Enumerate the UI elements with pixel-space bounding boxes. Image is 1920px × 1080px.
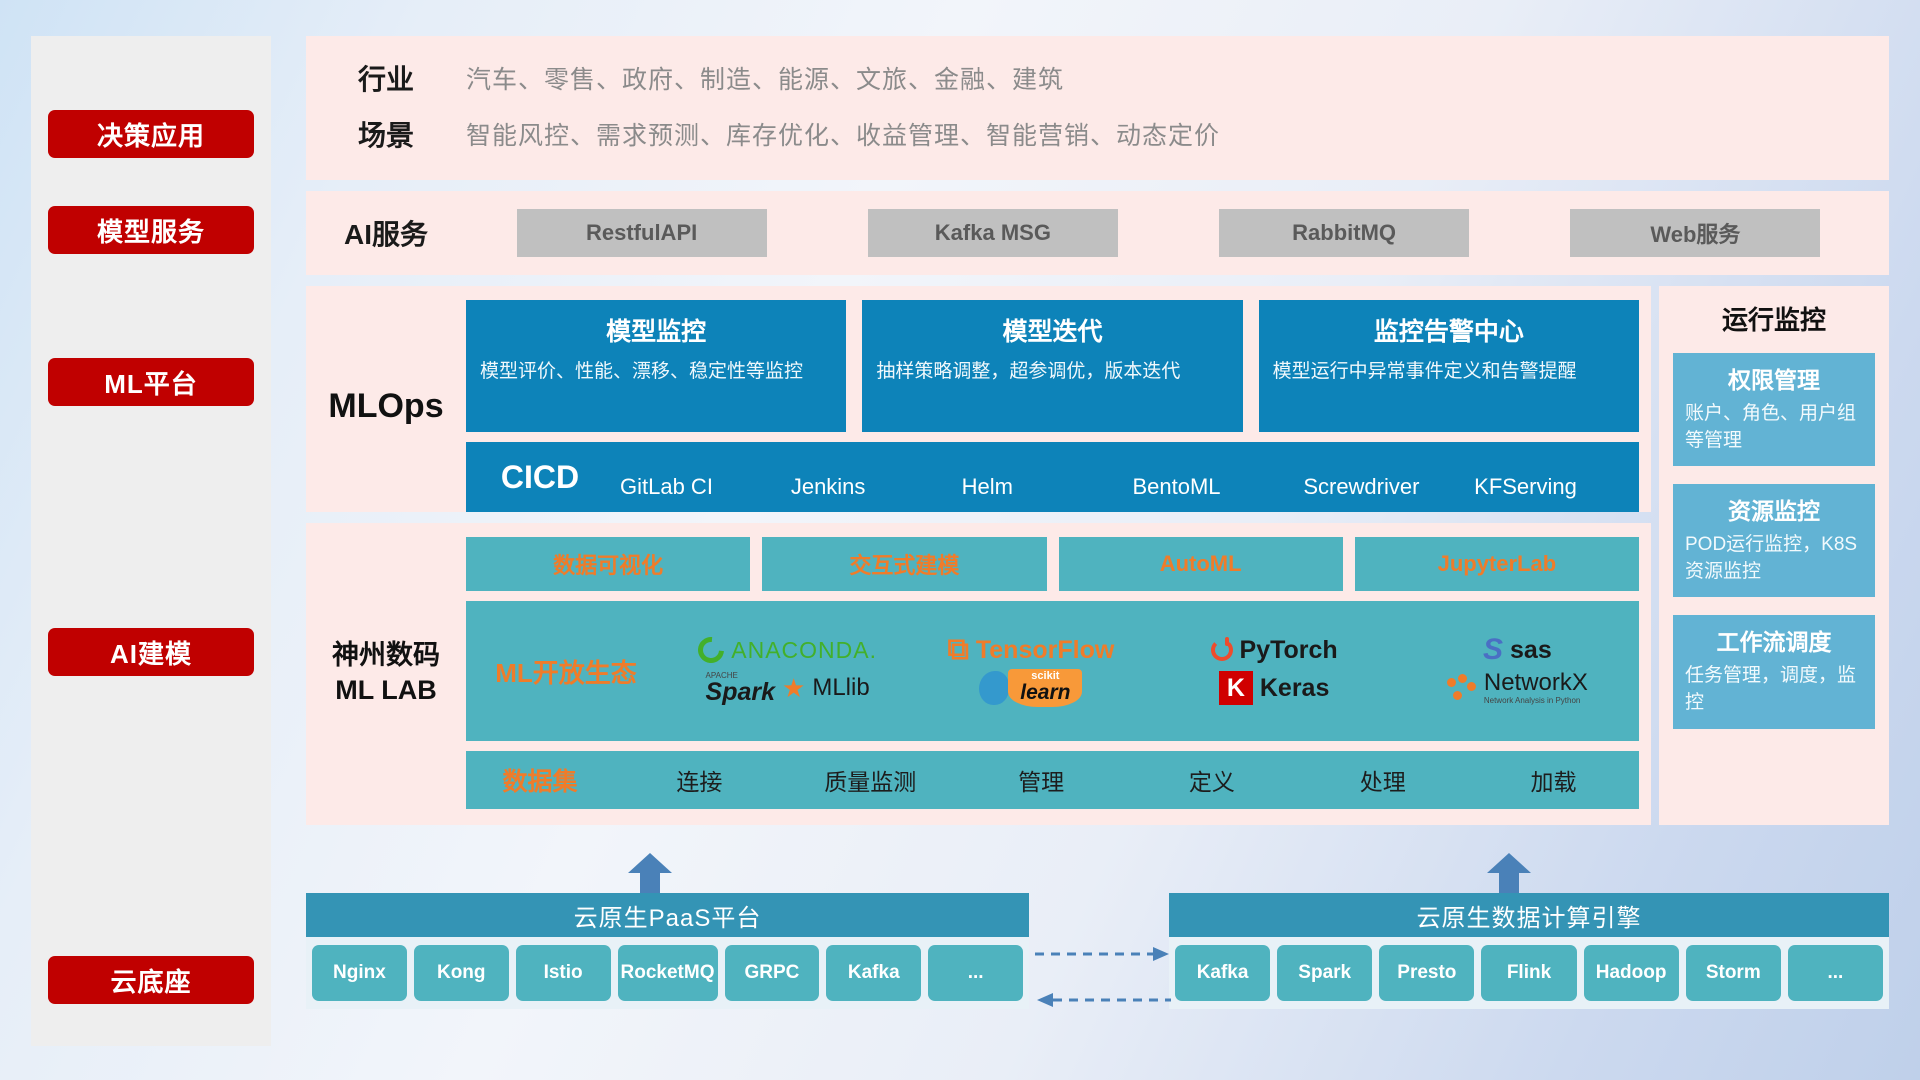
engine-chip-kafka[interactable]: Kafka [1175, 945, 1270, 1001]
cicd-item-helm[interactable]: Helm [956, 476, 1127, 498]
pytorch-flame-icon [1211, 639, 1233, 661]
card-desc: 模型运行中异常事件定义和告警提醒 [1273, 358, 1625, 386]
rail-item-ml-platform[interactable]: ML平台 [48, 358, 254, 406]
scikit-blob-icon [979, 671, 1009, 705]
anaconda-logo[interactable]: ANACONDA. [698, 637, 877, 664]
ai-service-chip-kafka-msg[interactable]: Kafka MSG [868, 209, 1118, 257]
paas-title: 云原生PaaS平台 [306, 893, 1029, 937]
ai-modeling-band: 神州数码 ML LAB 数据可视化 交互式建模 AutoML JupyterLa… [306, 523, 1651, 825]
pytorch-logo[interactable]: PyTorch [1211, 636, 1338, 665]
ecosystem-logo-grid: ANACONDA. ⧉ TensorFlow PyTorch [666, 635, 1639, 707]
keras-k-icon: K [1219, 671, 1253, 705]
tensorflow-logo[interactable]: ⧉ TensorFlow [947, 635, 1114, 665]
rail-item-label: AI建模 [110, 634, 192, 671]
anaconda-wordmark: ANACONDA. [731, 637, 877, 664]
scenario-label: 场景 [306, 114, 466, 154]
mllib-wordmark: MLlib [812, 674, 869, 702]
card-title: 模型迭代 [876, 312, 1228, 348]
ai-service-chip-row: RestfulAPI Kafka MSG RabbitMQ Web服务 [466, 209, 1889, 257]
spark-star-icon: ★ [782, 675, 805, 701]
mlops-label: MLOps [306, 300, 466, 512]
mlops-card-row: 模型监控 模型评价、性能、漂移、稳定性等监控 模型迭代 抽样策略调整，超参调优，… [466, 300, 1639, 432]
paas-chip-more[interactable]: ... [928, 945, 1023, 1001]
monitor-card-resource[interactable]: 资源监控 POD运行监控，K8S资源监控 [1673, 484, 1875, 597]
mlops-card-model-monitoring[interactable]: 模型监控 模型评价、性能、漂移、稳定性等监控 [466, 300, 846, 432]
networkx-tagline: Network Analysis in Python [1484, 697, 1588, 706]
brand-line-1: 神州数码 [332, 638, 440, 673]
paas-chip-istio[interactable]: Istio [516, 945, 611, 1001]
paas-chip-kafka[interactable]: Kafka [826, 945, 921, 1001]
stack-layer-rail: 决策应用 模型服务 ML平台 AI建模 云底座 [31, 36, 271, 1046]
keras-logo[interactable]: K Keras [1219, 671, 1330, 705]
card-desc: 抽样策略调整，超参调优，版本迭代 [876, 358, 1228, 386]
ml-lab-brand: 神州数码 ML LAB [306, 537, 466, 809]
paas-group: 云原生PaaS平台 Nginx Kong Istio RocketMQ GRPC… [306, 893, 1029, 1009]
dataset-item-load[interactable]: 加载 [1468, 763, 1639, 797]
engine-up-arrow-icon [1487, 853, 1531, 893]
paas-chip-grpc[interactable]: GRPC [725, 945, 820, 1001]
card-title: 模型监控 [480, 312, 832, 348]
networkx-graph-icon [1447, 674, 1477, 702]
tensorflow-wordmark: TensorFlow [976, 636, 1114, 665]
spark-wordmark: Spark [706, 680, 775, 705]
ai-service-chip-restfulapi[interactable]: RestfulAPI [517, 209, 767, 257]
monitor-card-workflow[interactable]: 工作流调度 任务管理，调度，监控 [1673, 615, 1875, 728]
ai-service-chip-web-service[interactable]: Web服务 [1570, 209, 1820, 257]
dataset-item-connect[interactable]: 连接 [614, 763, 785, 797]
engine-chip-row: Kafka Spark Presto Flink Hadoop Storm ..… [1169, 937, 1889, 1009]
dataset-item-quality-monitor[interactable]: 质量监测 [785, 763, 956, 797]
paas-chip-row: Nginx Kong Istio RocketMQ GRPC Kafka ... [306, 937, 1029, 1009]
card-title: 工作流调度 [1685, 623, 1863, 657]
card-desc: POD运行监控，K8S资源监控 [1685, 532, 1863, 585]
tensorflow-mark-icon: ⧉ [947, 635, 968, 665]
paas-chip-rocketmq[interactable]: RocketMQ [618, 945, 718, 1001]
decision-apps-band: 行业 汽车、零售、政府、制造、能源、文旅、金融、建筑 场景 智能风控、需求预测、… [306, 36, 1889, 180]
mlops-card-model-iteration[interactable]: 模型迭代 抽样策略调整，超参调优，版本迭代 [862, 300, 1242, 432]
engine-chip-flink[interactable]: Flink [1481, 945, 1576, 1001]
cicd-item-kfserving[interactable]: KFServing [1468, 476, 1639, 498]
engine-chip-spark[interactable]: Spark [1277, 945, 1372, 1001]
rail-item-label: 决策应用 [97, 116, 205, 153]
scenario-row: 场景 智能风控、需求预测、库存优化、收益管理、智能营销、动态定价 [306, 114, 1889, 154]
industry-row: 行业 汽车、零售、政府、制造、能源、文旅、金融、建筑 [306, 58, 1889, 98]
rail-item-label: 云底座 [110, 962, 191, 999]
keras-wordmark: Keras [1260, 674, 1330, 703]
dataset-label: 数据集 [466, 762, 614, 798]
industry-values: 汽车、零售、政府、制造、能源、文旅、金融、建筑 [466, 60, 1064, 96]
tool-chip-data-visualization[interactable]: 数据可视化 [466, 537, 750, 591]
card-title: 权限管理 [1685, 361, 1863, 395]
dataset-row: 数据集 连接 质量监测 管理 定义 处理 加载 [466, 751, 1639, 809]
card-desc: 模型评价、性能、漂移、稳定性等监控 [480, 358, 832, 386]
networkx-wordmark: NetworkX [1484, 670, 1588, 696]
sas-swirl-icon: S [1483, 635, 1503, 665]
rail-item-cloud-base[interactable]: 云底座 [48, 956, 254, 1004]
pytorch-wordmark: PyTorch [1240, 636, 1338, 665]
tool-chip-jupyterlab[interactable]: JupyterLab [1355, 537, 1639, 591]
mlops-card-alert-center[interactable]: 监控告警中心 模型运行中异常事件定义和告警提醒 [1259, 300, 1639, 432]
networkx-logo[interactable]: NetworkX Network Analysis in Python [1447, 670, 1588, 705]
engine-chip-storm[interactable]: Storm [1686, 945, 1781, 1001]
learn-word: learn [1020, 682, 1070, 703]
tool-chip-interactive-modeling[interactable]: 交互式建模 [762, 537, 1046, 591]
platform-region: MLOps 模型监控 模型评价、性能、漂移、稳定性等监控 模型迭代 抽样策略调整… [306, 286, 1889, 825]
mlops-band: MLOps 模型监控 模型评价、性能、漂移、稳定性等监控 模型迭代 抽样策略调整… [306, 286, 1651, 512]
paas-chip-nginx[interactable]: Nginx [312, 945, 407, 1001]
rail-item-label: ML平台 [104, 364, 198, 401]
sas-wordmark: sas [1510, 636, 1552, 665]
card-desc: 账户、角色、用户组等管理 [1685, 401, 1863, 454]
paas-chip-kong[interactable]: Kong [414, 945, 509, 1001]
rail-item-label: 模型服务 [97, 212, 205, 249]
anaconda-ring-icon [693, 632, 730, 669]
brand-line-2: ML LAB [335, 673, 437, 708]
platform-left-column: MLOps 模型监控 模型评价、性能、漂移、稳定性等监控 模型迭代 抽样策略调整… [306, 286, 1651, 825]
ai-service-label: AI服务 [306, 213, 466, 253]
ai-service-chip-rabbitmq[interactable]: RabbitMQ [1219, 209, 1469, 257]
engine-chip-more[interactable]: ... [1788, 945, 1883, 1001]
industry-label: 行业 [306, 58, 466, 98]
card-desc: 任务管理，调度，监控 [1685, 663, 1863, 716]
engine-chip-hadoop[interactable]: Hadoop [1584, 945, 1679, 1001]
rail-item-model-service[interactable]: 模型服务 [48, 206, 254, 254]
sas-logo[interactable]: S sas [1483, 635, 1552, 665]
runtime-monitor-column: 运行监控 权限管理 账户、角色、用户组等管理 资源监控 POD运行监控，K8S资… [1659, 286, 1889, 825]
scenario-values: 智能风控、需求预测、库存优化、收益管理、智能营销、动态定价 [466, 116, 1220, 152]
rail-item-decision-apps[interactable]: 决策应用 [48, 110, 254, 158]
modeling-tool-row: 数据可视化 交互式建模 AutoML JupyterLab [466, 537, 1639, 591]
cicd-item-gitlab-ci[interactable]: GitLab CI [614, 476, 785, 498]
cicd-item-jenkins[interactable]: Jenkins [785, 476, 956, 498]
monitor-card-permission[interactable]: 权限管理 账户、角色、用户组等管理 [1673, 353, 1875, 466]
data-engine-group: 云原生数据计算引擎 Kafka Spark Presto Flink Hadoo… [1169, 893, 1889, 1009]
engine-title: 云原生数据计算引擎 [1169, 893, 1889, 937]
ml-open-ecosystem-row: ML开放生态 ANACONDA. ⧉ TensorFlow [466, 601, 1639, 741]
cicd-label: CICD [466, 459, 614, 496]
scikit-learn-logo[interactable]: scikit learn [979, 669, 1082, 707]
tool-chip-automl[interactable]: AutoML [1059, 537, 1343, 591]
cicd-row: CICD GitLab CI Jenkins Helm BentoML Scre… [466, 442, 1639, 512]
ecosystem-label: ML开放生态 [466, 653, 666, 690]
ai-service-band: AI服务 RestfulAPI Kafka MSG RabbitMQ Web服务 [306, 191, 1889, 275]
spark-mllib-logo[interactable]: APACHE Spark ★ MLlib [706, 672, 870, 705]
runtime-monitor-title: 运行监控 [1673, 300, 1875, 337]
paas-up-arrow-icon [628, 853, 672, 893]
architecture-main: 行业 汽车、零售、政府、制造、能源、文旅、金融、建筑 场景 智能风控、需求预测、… [306, 36, 1889, 825]
rail-item-ai-modeling[interactable]: AI建模 [48, 628, 254, 676]
bidirectional-link-arrows [1035, 940, 1171, 1020]
card-title: 资源监控 [1685, 492, 1863, 526]
engine-chip-presto[interactable]: Presto [1379, 945, 1474, 1001]
dataset-item-manage[interactable]: 管理 [956, 763, 1127, 797]
cicd-item-bentoml[interactable]: BentoML [1126, 476, 1297, 498]
dataset-item-define[interactable]: 定义 [1126, 763, 1297, 797]
dataset-item-process[interactable]: 处理 [1297, 763, 1468, 797]
cicd-item-screwdriver[interactable]: Screwdriver [1297, 476, 1468, 498]
card-title: 监控告警中心 [1273, 312, 1625, 348]
